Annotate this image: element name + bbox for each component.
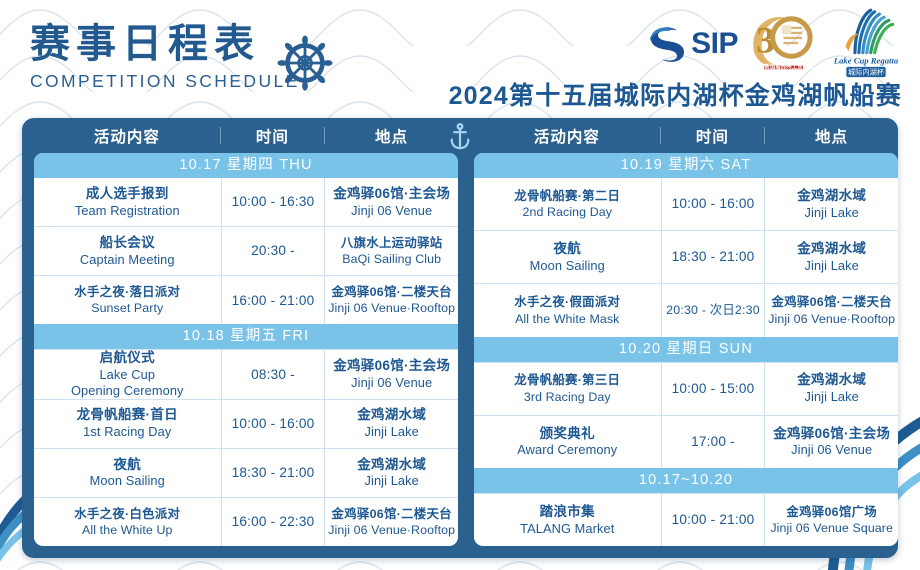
event-title: 2024第十五届城际内湖杯金鸡湖帆船赛 xyxy=(449,76,902,112)
cell-event: 水手之夜·假面派对All the White Mask xyxy=(474,284,661,336)
location-en: Jinji Lake xyxy=(365,473,419,490)
location-cn: 金鸡驿06馆·二楼天台 xyxy=(332,506,452,522)
table-row: 成人选手报到Team Registration10:00 - 16:30金鸡驿0… xyxy=(34,178,458,226)
cell-event: 颁奖典礼Award Ceremony xyxy=(474,416,661,468)
event-name-cn: 龙骨帆船赛·第二日 xyxy=(514,188,620,204)
event-name-en: 1st Racing Day xyxy=(83,424,171,441)
cell-time: 10:00 - 16:00 xyxy=(661,178,765,230)
location-en: Jinji 06 Venue·Rooftop xyxy=(328,300,455,316)
cell-time: 08:30 - xyxy=(221,350,325,398)
location-cn: 金鸡驿06馆·主会场 xyxy=(333,357,450,375)
table-row: 夜航Moon Sailing18:30 - 21:00金鸡湖水域Jinji La… xyxy=(474,230,898,283)
location-cn: 金鸡驿06馆·主会场 xyxy=(773,425,890,443)
location-cn: 金鸡湖水域 xyxy=(357,456,426,474)
location-cn: 金鸡驿06馆·主会场 xyxy=(333,185,450,203)
location-en: Jinji Lake xyxy=(365,424,419,441)
location-cn: 八旗水上运动驿站 xyxy=(341,235,443,251)
cell-location: 金鸡驿06馆·二楼天台Jinji 06 Venue·Rooftop xyxy=(324,276,458,324)
cell-time: 10:00 - 21:00 xyxy=(661,494,765,546)
event-name-cn: 夜航 xyxy=(553,240,581,258)
event-name-cn: 颁奖典礼 xyxy=(540,425,595,443)
event-name-cn: 龙骨帆船赛·第三日 xyxy=(514,372,620,388)
table-row: 龙骨帆船赛·第三日3rd Racing Day10:00 - 15:00金鸡湖水… xyxy=(474,362,898,415)
schedule-table-right: 活动内容时间地点10.19 星期六 SAT龙骨帆船赛·第二日2nd Racing… xyxy=(474,118,898,558)
cell-event: 踏浪市集TALANG Market xyxy=(474,494,661,546)
schedule-poster: 赛事日程表 COMPETITION SCHEDULE xyxy=(0,0,920,570)
sip-30th-anniversary-logo: 3 中国新加坡苏州工业园区 xyxy=(746,8,818,80)
column-header-event: 活动内容 xyxy=(474,125,660,147)
cell-time: 17:00 - xyxy=(661,416,765,468)
sip-logo: SIP xyxy=(647,20,738,68)
cell-event: 水手之夜·落日派对Sunset Party xyxy=(34,276,221,324)
event-name-en: Team Registration xyxy=(75,203,180,220)
event-time: 10:00 - 15:00 xyxy=(672,380,755,398)
header-separator xyxy=(324,127,325,144)
location-cn: 金鸡湖水域 xyxy=(357,406,426,424)
location-en: Jinji 06 Venue·Rooftop xyxy=(328,522,455,538)
cell-time: 10:00 - 15:00 xyxy=(661,363,765,415)
location-en: Jinji Lake xyxy=(805,258,859,275)
cell-time: 20:30 - xyxy=(221,227,325,275)
column-header-time: 时间 xyxy=(221,125,324,147)
cell-event: 龙骨帆船赛·第二日2nd Racing Day xyxy=(474,178,661,230)
cell-time: 10:00 - 16:30 xyxy=(221,178,325,226)
cell-event: 启航仪式Lake CupOpening Ceremony xyxy=(34,350,221,398)
table-row: 启航仪式Lake CupOpening Ceremony08:30 -金鸡驿06… xyxy=(34,349,458,398)
location-en: BaQi Sailing Club xyxy=(342,251,441,267)
event-name-en: 2nd Racing Day xyxy=(522,204,612,220)
cell-time: 18:30 - 21:00 xyxy=(661,231,765,283)
event-time: 18:30 - 21:00 xyxy=(232,464,315,482)
cell-location: 金鸡驿06馆·主会场Jinji 06 Venue xyxy=(764,416,898,468)
location-cn: 金鸡驿06馆·二楼天台 xyxy=(772,294,892,310)
event-time: 08:30 - xyxy=(251,366,295,384)
date-group-header: 10.18 星期五 FRI xyxy=(34,324,458,349)
date-group-header: 10.17 星期四 THU xyxy=(34,153,458,178)
schedule-table-left: 活动内容时间地点10.17 星期四 THU成人选手报到Team Registra… xyxy=(34,118,458,558)
event-time: 10:00 - 16:30 xyxy=(232,193,315,211)
cell-location: 金鸡驿06馆·二楼天台Jinji 06 Venue·Rooftop xyxy=(324,498,458,546)
cell-location: 金鸡湖水域Jinji Lake xyxy=(764,231,898,283)
event-name-en: Sunset Party xyxy=(91,300,163,316)
cell-event: 水手之夜·白色派对All the White Up xyxy=(34,498,221,546)
event-name-en: Award Ceremony xyxy=(517,442,617,459)
table-row: 踏浪市集TALANG Market10:00 - 21:00金鸡驿06馆广场Ji… xyxy=(474,493,898,546)
event-name-en-line2: Opening Ceremony xyxy=(71,383,184,400)
event-name-cn: 龙骨帆船赛·首日 xyxy=(77,406,178,424)
cell-time: 20:30 - 次日2:30 xyxy=(661,284,765,336)
location-en: Jinji 06 Venue xyxy=(351,375,432,392)
cell-event: 龙骨帆船赛·第三日3rd Racing Day xyxy=(474,363,661,415)
cell-event: 成人选手报到Team Registration xyxy=(34,178,221,226)
event-name-en: 3rd Racing Day xyxy=(524,389,611,405)
location-cn: 金鸡湖水域 xyxy=(797,187,866,205)
table-row: 水手之夜·落日派对Sunset Party16:00 - 21:00金鸡驿06馆… xyxy=(34,275,458,324)
location-en: Jinji 06 Venue·Rooftop xyxy=(768,311,895,327)
event-time: 20:30 - 次日2:30 xyxy=(666,302,760,318)
cell-location: 金鸡湖水域Jinji Lake xyxy=(324,400,458,448)
event-time: 16:00 - 22:30 xyxy=(232,513,315,531)
cell-event: 龙骨帆船赛·首日1st Racing Day xyxy=(34,400,221,448)
event-name-cn: 启航仪式 xyxy=(100,349,155,367)
header-separator xyxy=(764,127,765,144)
event-name-en: Captain Meeting xyxy=(80,252,175,269)
table-header-row: 活动内容时间地点 xyxy=(34,118,458,153)
location-en: Jinji 06 Venue xyxy=(791,442,872,459)
sip-30-caption: 中国新加坡苏州工业园区 xyxy=(753,63,814,71)
table-row: 水手之夜·假面派对All the White Mask20:30 - 次日2:3… xyxy=(474,283,898,336)
table-row: 夜航Moon Sailing18:30 - 21:00金鸡湖水域Jinji La… xyxy=(34,448,458,497)
event-name-en: TALANG Market xyxy=(520,521,614,538)
location-en: Jinji Lake xyxy=(805,389,859,406)
location-cn: 金鸡湖水域 xyxy=(797,240,866,258)
location-en: Jinji Lake xyxy=(805,205,859,222)
event-time: 10:00 - 21:00 xyxy=(672,511,755,529)
cell-time: 16:00 - 21:00 xyxy=(221,276,325,324)
header-separator xyxy=(220,127,221,144)
event-time: 10:00 - 16:00 xyxy=(232,415,315,433)
poster-header: 赛事日程表 COMPETITION SCHEDULE xyxy=(0,0,920,118)
cell-event: 船长会议Captain Meeting xyxy=(34,227,221,275)
date-group-header: 10.20 星期日 SUN xyxy=(474,337,898,362)
cell-time: 18:30 - 21:00 xyxy=(221,449,325,497)
date-group-header: 10.19 星期六 SAT xyxy=(474,153,898,178)
table-row: 船长会议Captain Meeting20:30 -八旗水上运动驿站BaQi S… xyxy=(34,226,458,275)
cell-location: 金鸡驿06馆·二楼天台Jinji 06 Venue·Rooftop xyxy=(764,284,898,336)
event-name-en: Lake Cup xyxy=(99,367,155,384)
table-row: 龙骨帆船赛·首日1st Racing Day10:00 - 16:00金鸡湖水域… xyxy=(34,399,458,448)
event-name-cn: 夜航 xyxy=(113,456,141,474)
location-en: Jinji 06 Venue xyxy=(351,203,432,220)
table-row: 龙骨帆船赛·第二日2nd Racing Day10:00 - 16:00金鸡湖水… xyxy=(474,178,898,230)
cell-location: 八旗水上运动驿站BaQi Sailing Club xyxy=(324,227,458,275)
header-separator xyxy=(660,127,661,144)
table-row: 水手之夜·白色派对All the White Up16:00 - 22:30金鸡… xyxy=(34,497,458,546)
column-header-location: 地点 xyxy=(325,125,458,147)
table-body: 10.19 星期六 SAT龙骨帆船赛·第二日2nd Racing Day10:0… xyxy=(474,153,898,546)
cell-event: 夜航Moon Sailing xyxy=(34,449,221,497)
cell-location: 金鸡驿06馆·主会场Jinji 06 Venue xyxy=(324,178,458,226)
cell-location: 金鸡湖水域Jinji Lake xyxy=(764,178,898,230)
event-name-en: Moon Sailing xyxy=(90,473,165,490)
event-time: 18:30 - 21:00 xyxy=(672,248,755,266)
ship-wheel-icon xyxy=(276,34,334,92)
event-time: 17:00 - xyxy=(691,433,735,451)
cell-location: 金鸡驿06馆广场Jinji 06 Venue Square xyxy=(764,494,898,546)
date-group-header: 10.17~10.20 xyxy=(474,468,898,493)
event-name-en: All the White Mask xyxy=(515,311,619,327)
column-header-time: 时间 xyxy=(661,125,764,147)
sponsor-logos: SIP 3 中国新加坡苏州工业园区 xyxy=(647,8,906,80)
event-time: 16:00 - 21:00 xyxy=(232,292,315,310)
event-time: 10:00 - 16:00 xyxy=(672,195,755,213)
table-body: 10.17 星期四 THU成人选手报到Team Registration10:0… xyxy=(34,153,458,546)
cell-event: 夜航Moon Sailing xyxy=(474,231,661,283)
location-cn: 金鸡湖水域 xyxy=(797,371,866,389)
table-row: 颁奖典礼Award Ceremony17:00 -金鸡驿06馆·主会场Jinji… xyxy=(474,415,898,468)
event-name-cn: 踏浪市集 xyxy=(540,503,595,521)
schedule-panel: 活动内容时间地点10.17 星期四 THU成人选手报到Team Registra… xyxy=(22,118,898,558)
cell-location: 金鸡湖水域Jinji Lake xyxy=(324,449,458,497)
event-name-en: All the White Up xyxy=(82,522,172,538)
location-cn: 金鸡驿06馆广场 xyxy=(786,504,877,520)
cell-location: 金鸡湖水域Jinji Lake xyxy=(764,363,898,415)
event-time: 20:30 - xyxy=(251,242,295,260)
lake-cup-name: Lake Cup Regatta xyxy=(833,56,899,66)
event-name-cn: 水手之夜·落日派对 xyxy=(74,284,180,300)
event-name-cn: 水手之夜·假面派对 xyxy=(514,294,620,310)
sip-logo-text: SIP xyxy=(691,29,738,59)
event-name-cn: 成人选手报到 xyxy=(86,185,169,203)
event-name-en: Moon Sailing xyxy=(530,258,605,275)
lake-cup-regatta-logo: Lake Cup Regatta 城际内湖杯 xyxy=(826,7,906,81)
event-name-cn: 水手之夜·白色派对 xyxy=(74,506,180,522)
cell-time: 16:00 - 22:30 xyxy=(221,498,325,546)
column-header-event: 活动内容 xyxy=(34,125,220,147)
event-name-cn: 船长会议 xyxy=(100,234,155,252)
cell-time: 10:00 - 16:00 xyxy=(221,400,325,448)
column-header-location: 地点 xyxy=(765,125,898,147)
location-cn: 金鸡驿06馆·二楼天台 xyxy=(332,284,452,300)
cell-location: 金鸡驿06馆·主会场Jinji 06 Venue xyxy=(324,350,458,398)
location-en: Jinji 06 Venue Square xyxy=(770,520,893,536)
table-header-row: 活动内容时间地点 xyxy=(474,118,898,153)
